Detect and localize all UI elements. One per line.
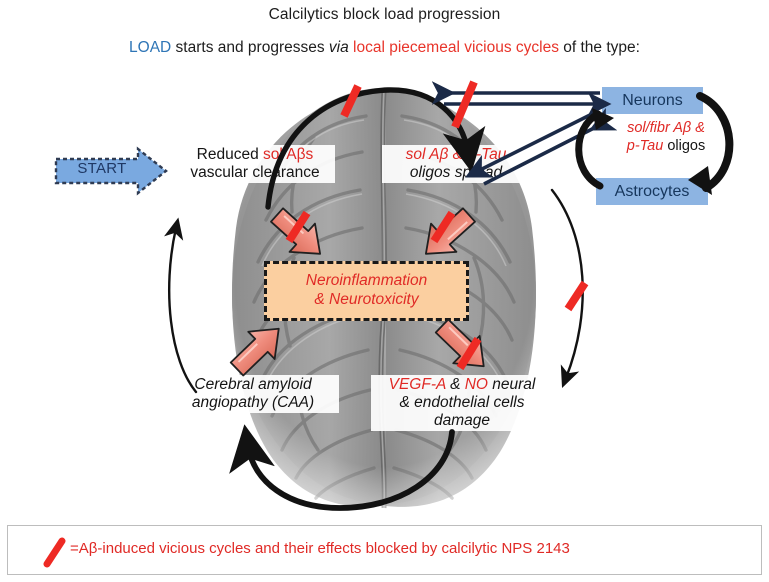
cell-mid-line2: p-Tau oligos <box>600 138 732 156</box>
reduced-prefix: Reduced <box>197 146 263 163</box>
astrocytes-box: Astrocytes <box>596 178 708 205</box>
vegf-neural: neural <box>488 376 535 393</box>
page-title: Calcilytics block load progression <box>0 6 769 24</box>
oligos-line1: sol Aβ & p-Tau <box>386 146 526 164</box>
vegf-line3: damage <box>375 412 549 430</box>
oligos-line2: oligos spread <box>386 164 526 182</box>
subtitle: LOAD starts and progresses via local pie… <box>0 39 769 57</box>
neurons-box: Neurons <box>602 87 703 114</box>
start-block-arrow <box>52 146 170 196</box>
oligos-suffix: oligos <box>663 138 705 154</box>
red-slash-marker <box>39 536 71 568</box>
subtitle-load: LOAD <box>129 39 171 56</box>
node-reduced-clearance: Reduced sol Aβs vascular clearance <box>175 145 335 183</box>
arrow-left-upward <box>169 228 196 392</box>
node-oligos-spread: sol Aβ & p-Tau oligos spread <box>382 145 530 183</box>
vegf-line1: VEGF-A & NO neural <box>375 376 549 394</box>
caa-line1: Cerebral amyloid <box>171 376 335 394</box>
legend-text: =Aβ-induced vicious cycles and their eff… <box>70 540 570 557</box>
legend-panel: =Aβ-induced vicious cycles and their eff… <box>7 525 762 575</box>
cell-mid-line1: sol/fibr Aβ & <box>600 120 732 138</box>
no-label: NO <box>465 376 488 393</box>
caa-line2: angiopathy (CAA) <box>171 394 335 412</box>
reduced-sol-abeta: sol Aβs <box>263 146 313 163</box>
subtitle-cycles: local piecemeal vicious cycles <box>349 39 564 56</box>
p-tau-label: p-Tau <box>627 138 664 154</box>
inflam-line1: Neroinflammation <box>306 272 427 291</box>
node-reduced-line2: vascular clearance <box>179 164 331 182</box>
diagram-canvas: Calcilytics block load progression LOAD … <box>0 0 769 582</box>
node-vegf-damage: VEGF-A & NO neural & endothelial cells d… <box>371 375 553 431</box>
vegf-a-label: VEGF-A <box>389 376 446 393</box>
subtitle-via: via <box>329 39 349 56</box>
node-caa: Cerebral amyloid angiopathy (CAA) <box>167 375 339 413</box>
neuroinflammation-box: Neroinflammation & Neurotoxicity <box>264 261 469 321</box>
vegf-line2: & endothelial cells <box>375 394 549 412</box>
subtitle-mid: starts and progresses <box>171 39 329 56</box>
cell-mediator-label: sol/fibr Aβ & p-Tau oligos <box>600 120 732 155</box>
vegf-amp: & <box>446 376 465 393</box>
subtitle-tail: of the type: <box>563 39 640 56</box>
inflam-line2: & Neurotoxicity <box>306 291 427 310</box>
node-reduced-line1: Reduced sol Aβs <box>179 146 331 164</box>
